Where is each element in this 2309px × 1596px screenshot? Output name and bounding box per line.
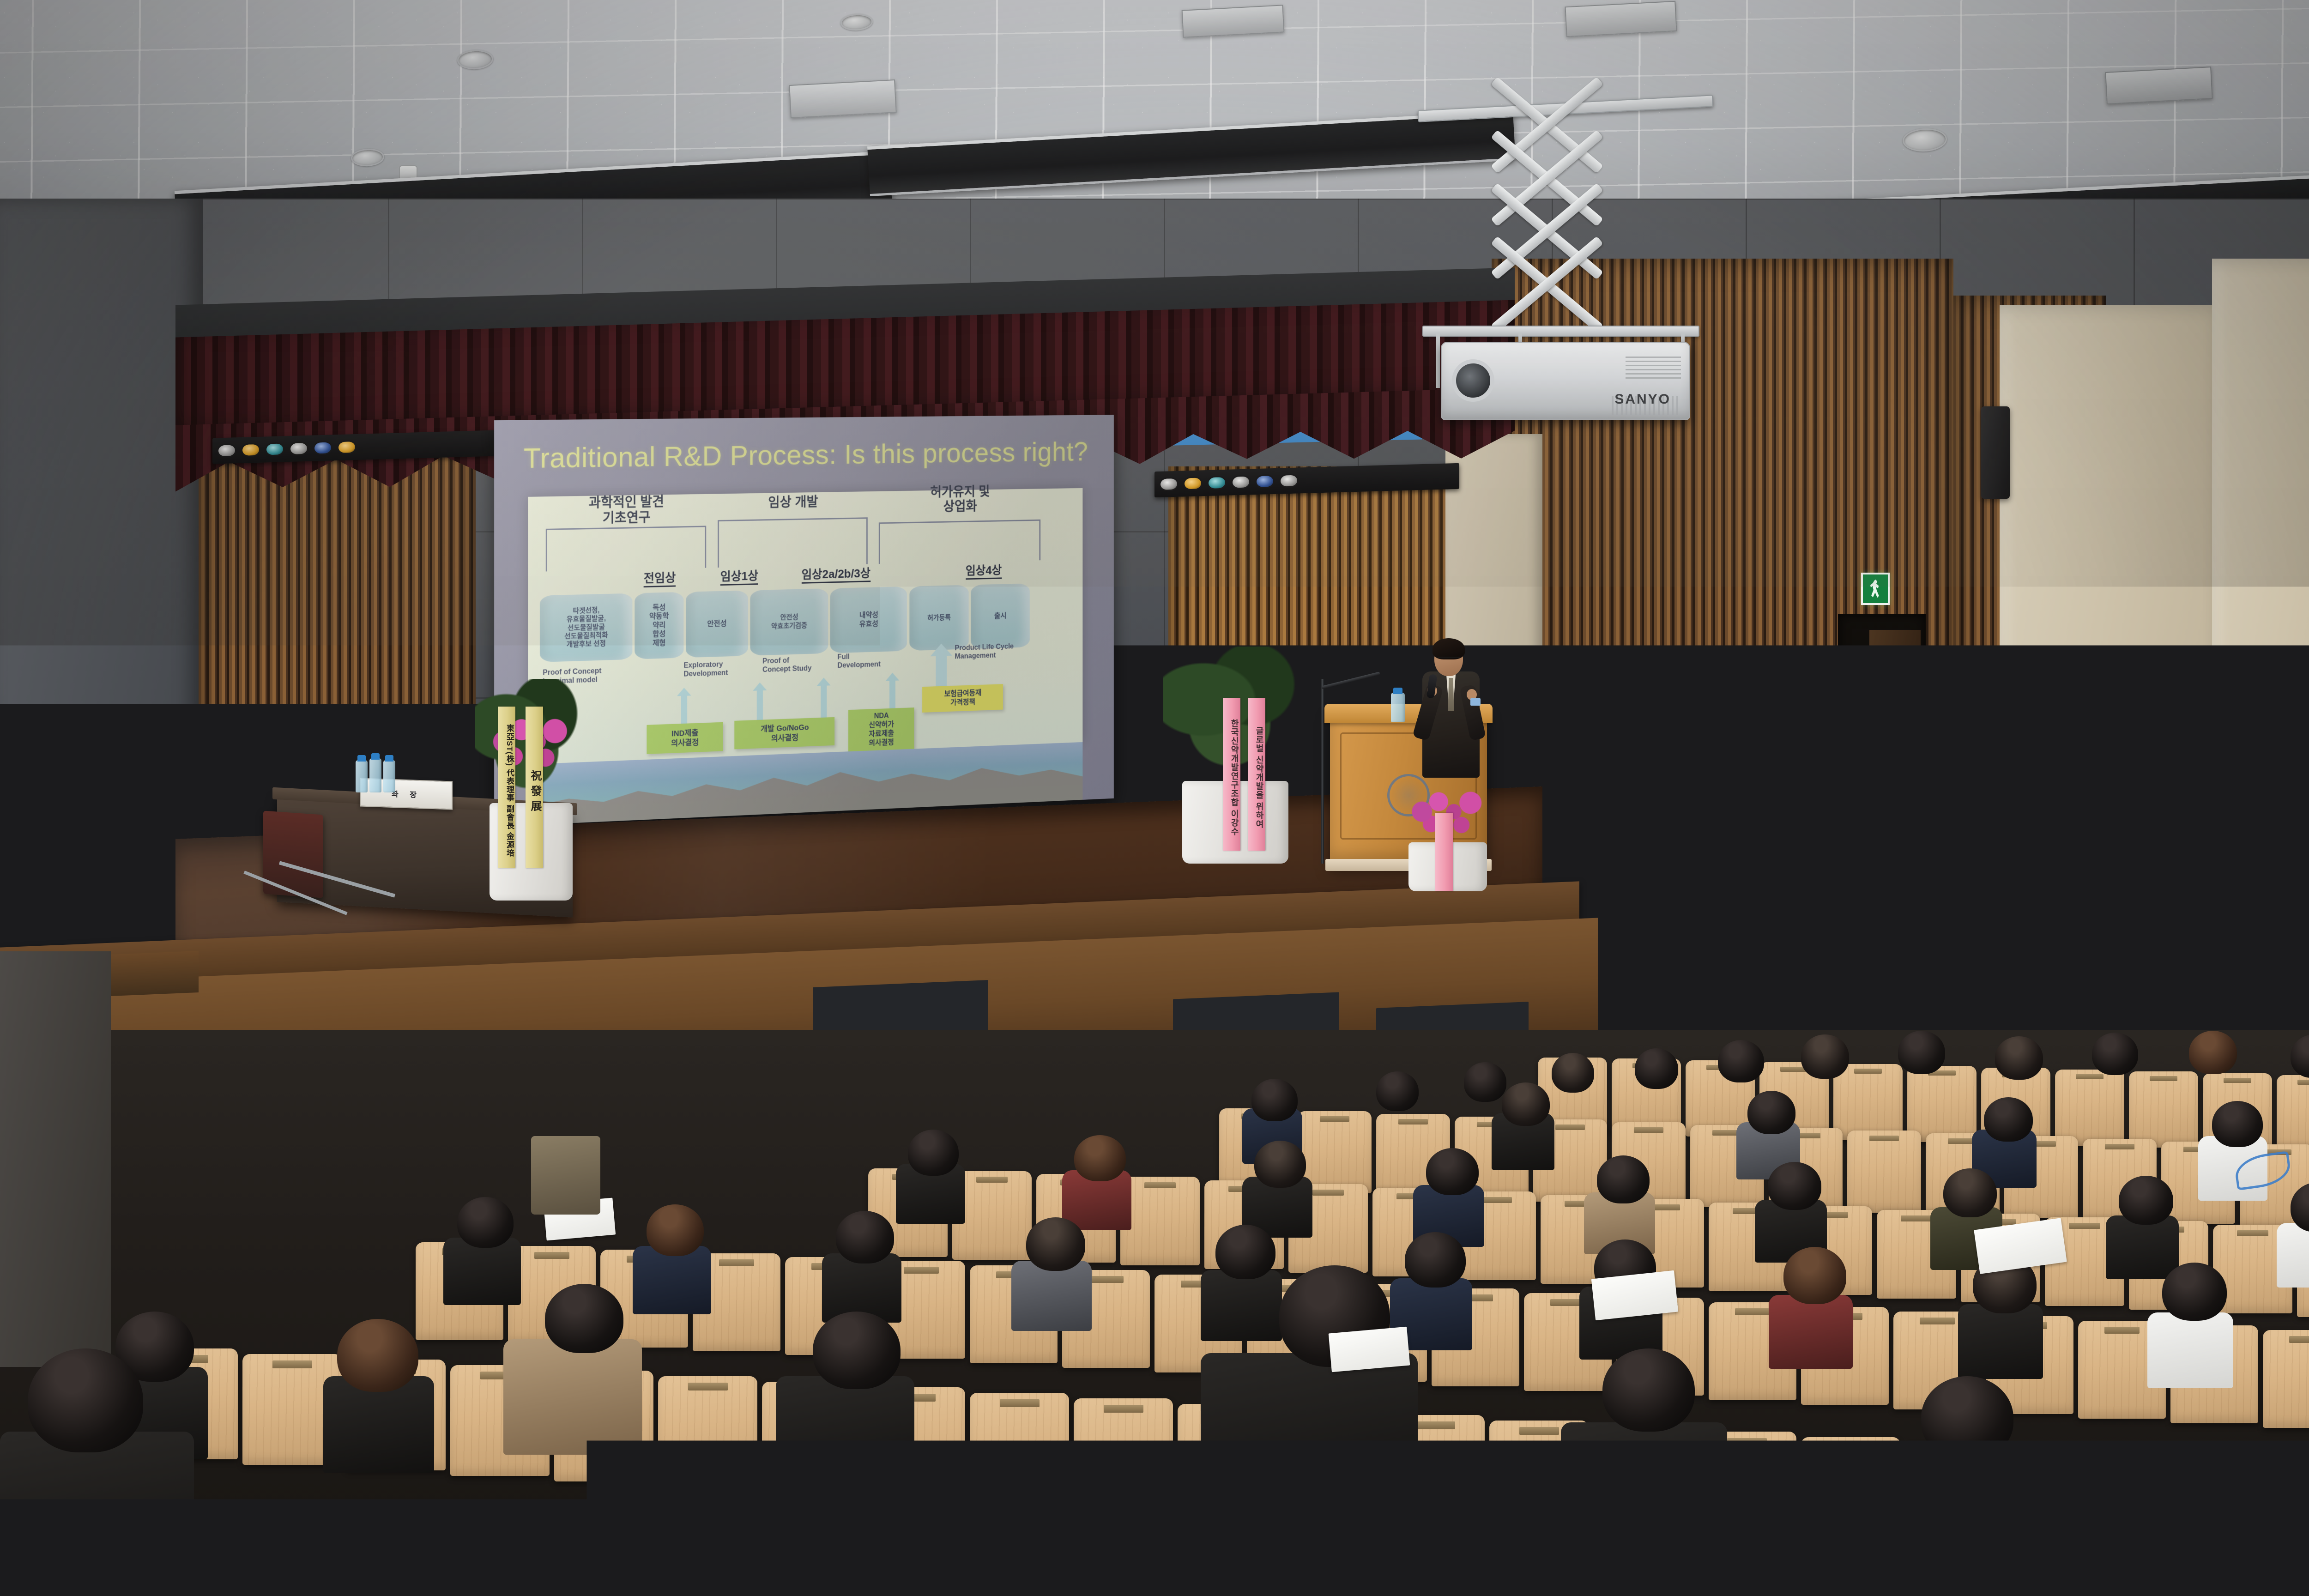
attendee-head <box>1502 1082 1550 1126</box>
seat[interactable] <box>1120 1177 1200 1265</box>
phase-label: 임상4상 <box>966 561 1002 580</box>
draped-coat <box>1182 1016 1242 1085</box>
attendee-head <box>2162 1263 2227 1321</box>
stage-caption: Exploratory Development <box>683 660 728 679</box>
stage-lamp-icon <box>337 440 357 454</box>
phase-bracket <box>546 526 707 571</box>
flower-ribbon-left-a: 東亞ST(株) 代表理事 副會長 金源培 <box>498 707 515 868</box>
projector-brand-label: SANYO <box>1614 392 1671 407</box>
handout-paper[interactable] <box>1042 1528 1203 1596</box>
attendee-torso <box>633 1246 711 1314</box>
process-stage: 내약성유효성 <box>830 586 907 653</box>
seat[interactable] <box>2113 1454 2212 1565</box>
attendee-head <box>1768 1162 1821 1210</box>
stage-caption: Product Life Cycle Management <box>955 642 1014 661</box>
attendee-head <box>1898 1031 1945 1074</box>
attendee-head <box>1026 1217 1085 1271</box>
ceiling-light-panel <box>789 79 896 118</box>
flow-arrow <box>821 685 827 719</box>
seat[interactable] <box>2263 1330 2309 1428</box>
phase-group-label: 허가유지 및 상업화 <box>884 484 1035 516</box>
water-bottle <box>369 758 381 792</box>
ceiling-projector: SANYO <box>1441 342 1690 420</box>
attendee-head <box>2189 1031 2237 1074</box>
attendee-head <box>647 1204 704 1256</box>
attendee-torso <box>1769 1295 1853 1369</box>
handout-paper[interactable] <box>1329 1327 1410 1372</box>
podium-flower-ribbon <box>1435 813 1453 891</box>
bottle-cap <box>385 755 393 762</box>
stage-lamp-icon <box>217 443 236 458</box>
attendee-head <box>2212 1101 2263 1147</box>
attendee-head <box>1597 1155 1650 1203</box>
attendee-head <box>28 1348 143 1452</box>
seat[interactable] <box>1833 1064 1903 1140</box>
attendee-torso <box>1884 1445 2041 1579</box>
process-stage: 독성약동학약리합성제형 <box>635 592 683 659</box>
flower-ribbon-left-b: 祝 發 展 <box>526 707 543 868</box>
ceiling-light-panel <box>1182 5 1285 37</box>
attendee-torso <box>1958 1304 2043 1379</box>
attendee-head <box>1921 1376 2013 1459</box>
phase-label: 전임상 <box>644 568 676 587</box>
slide-body: 과학적인 발견 기초연구 임상 개발 허가유지 및 상업화 전임상 임상1상 임… <box>528 488 1083 764</box>
seat[interactable] <box>2055 1070 2124 1146</box>
exit-doorway[interactable] <box>1838 614 1926 813</box>
seat[interactable] <box>658 1376 757 1487</box>
phase-bracket <box>879 520 1040 564</box>
attendee-torso-fur-coat <box>503 1339 642 1455</box>
process-stage: 타겟선정,유효물질발굴,선도물질발굴선도물질최적화개발후보 선정 <box>540 593 632 663</box>
water-bottle <box>383 760 395 792</box>
attendee-head <box>1995 1036 2043 1080</box>
emergency-exit-sign <box>1861 573 1890 605</box>
glasses-icon <box>1438 657 1460 662</box>
attendee-head <box>1074 1135 1126 1181</box>
attendee-torso <box>1011 1261 1092 1331</box>
attendee-head <box>1943 1168 1997 1217</box>
decision-box-reimbursement: 보험급여등재 가격정책 <box>922 684 1003 713</box>
stone-column-far-right <box>2212 259 2309 951</box>
attendee-head <box>1464 1062 1506 1102</box>
bottle-cap <box>1393 688 1402 694</box>
stage-lamp-icon <box>313 441 332 455</box>
presenter <box>1422 641 1492 793</box>
flower-ribbon-right-a: 한국신약개발연구조합 이강수 <box>1223 698 1240 851</box>
flower-ribbon-right-b: 글로벌 신약개발을 위하여 <box>1248 698 1265 851</box>
stage-caption: Full Development <box>838 653 881 671</box>
bottle-cap <box>371 753 380 760</box>
attendee-head <box>1635 1048 1678 1089</box>
water-bottle <box>356 760 368 792</box>
phase-group-label: 임상 개발 <box>723 494 862 511</box>
phase-group-label: 과학적인 발견 기초연구 <box>551 494 701 527</box>
running-person-icon <box>1869 580 1881 598</box>
phase-bracket <box>718 518 868 568</box>
attendee-head <box>1801 1034 1849 1079</box>
seat[interactable] <box>1907 1066 1977 1142</box>
attendee-head <box>1405 1232 1466 1288</box>
ceiling-light-panel <box>1565 1 1677 37</box>
stage-lamp-icon <box>1159 477 1179 491</box>
attendee-head <box>337 1319 418 1392</box>
attendee-head <box>1718 1040 1764 1082</box>
seat[interactable] <box>1074 1398 1173 1509</box>
process-stage: 안전성약효초기검증 <box>750 588 828 656</box>
ceiling-light-panel <box>2105 66 2212 104</box>
left-wall-panel <box>0 199 203 919</box>
lift-lower-plate <box>1422 326 1699 337</box>
decision-box-gonogo: 개발 Go/NoGo 의사결정 <box>734 717 834 749</box>
attendee-head <box>813 1312 901 1389</box>
attendee-torso <box>2147 1312 2233 1388</box>
attendee-torso <box>776 1376 914 1496</box>
decision-box-nda: NDA 신약허가 자료제출 의사결정 <box>848 707 914 751</box>
phase-label: 임상1상 <box>720 567 758 586</box>
attendee-head <box>1783 1247 1846 1304</box>
attendee-head <box>1376 1071 1419 1111</box>
attendee-torso-foreground <box>1201 1353 1418 1510</box>
attendee-head <box>1747 1091 1795 1134</box>
attendee-head <box>2092 1033 2138 1075</box>
seat[interactable] <box>1847 1130 1921 1213</box>
seat[interactable] <box>970 1393 1069 1504</box>
attendee-head <box>1552 1053 1594 1093</box>
draped-coat <box>531 1136 600 1215</box>
stage-lamp-icon <box>1255 474 1275 489</box>
attendee-head <box>1215 1225 1275 1279</box>
attendee-head <box>545 1284 623 1353</box>
attendee-head <box>836 1211 894 1263</box>
attendee-torso <box>1561 1422 1727 1561</box>
name-badge <box>1470 698 1481 706</box>
stage-lamp-icon <box>241 443 260 457</box>
attendee-torso <box>2277 1223 2309 1288</box>
attendee-head <box>457 1197 514 1248</box>
stage-caption: Proof of Concept Study <box>762 656 811 675</box>
attendee-head <box>1426 1148 1479 1195</box>
flow-arrow <box>681 695 687 724</box>
stone-column-right <box>2000 305 2230 951</box>
stage-lamp-icon <box>1207 476 1227 490</box>
attendee-head <box>908 1130 959 1176</box>
microphone-stand <box>1321 679 1324 864</box>
wall-speaker-icon <box>1981 406 2010 499</box>
door-leaf[interactable] <box>1869 630 1920 809</box>
stage-lamp-icon <box>1231 475 1251 489</box>
attendee-head <box>1254 1141 1306 1188</box>
lift-post <box>1436 332 1440 388</box>
house-wall-left <box>0 951 111 1367</box>
slide-title: Traditional R&D Process: Is this process… <box>524 436 1094 475</box>
flow-arrow-plcm <box>936 655 947 686</box>
podium-water-bottle <box>1391 693 1405 722</box>
attendee-torso <box>1201 1270 1282 1341</box>
projector-vents <box>1626 357 1681 381</box>
stage-lamp-icon <box>1279 474 1299 488</box>
seat[interactable] <box>2277 1075 2309 1151</box>
decision-box-ind: IND제출 의사결정 <box>647 722 723 754</box>
stage-lamp-icon <box>289 441 308 456</box>
seat[interactable] <box>2129 1071 2198 1148</box>
attendee-head <box>2119 1176 2173 1225</box>
stage-lamp-icon <box>1183 476 1203 490</box>
attendee-head <box>1602 1348 1695 1432</box>
stage-lamp-icon <box>265 442 284 456</box>
process-stage: 허가등록 <box>909 585 969 651</box>
attendee-head <box>1251 1079 1298 1121</box>
flow-arrow <box>757 689 763 721</box>
attendee-head <box>1984 1097 2033 1142</box>
phase-label: 임상2a/2b/3상 <box>802 564 870 583</box>
seat[interactable] <box>2217 1459 2309 1570</box>
process-stage: 안전성 <box>686 590 748 658</box>
projector-lens-icon <box>1452 359 1494 402</box>
process-stage: 출시 <box>971 583 1030 649</box>
bottle-cap <box>357 755 366 762</box>
handout-paper[interactable] <box>647 1512 793 1596</box>
attendee-torso <box>2106 1215 2179 1279</box>
handout-paper[interactable] <box>1591 1270 1678 1320</box>
attendee-torso-foreground <box>0 1432 194 1596</box>
auditorium-photo: usan 학교 약학대 <box>0 0 2309 1596</box>
